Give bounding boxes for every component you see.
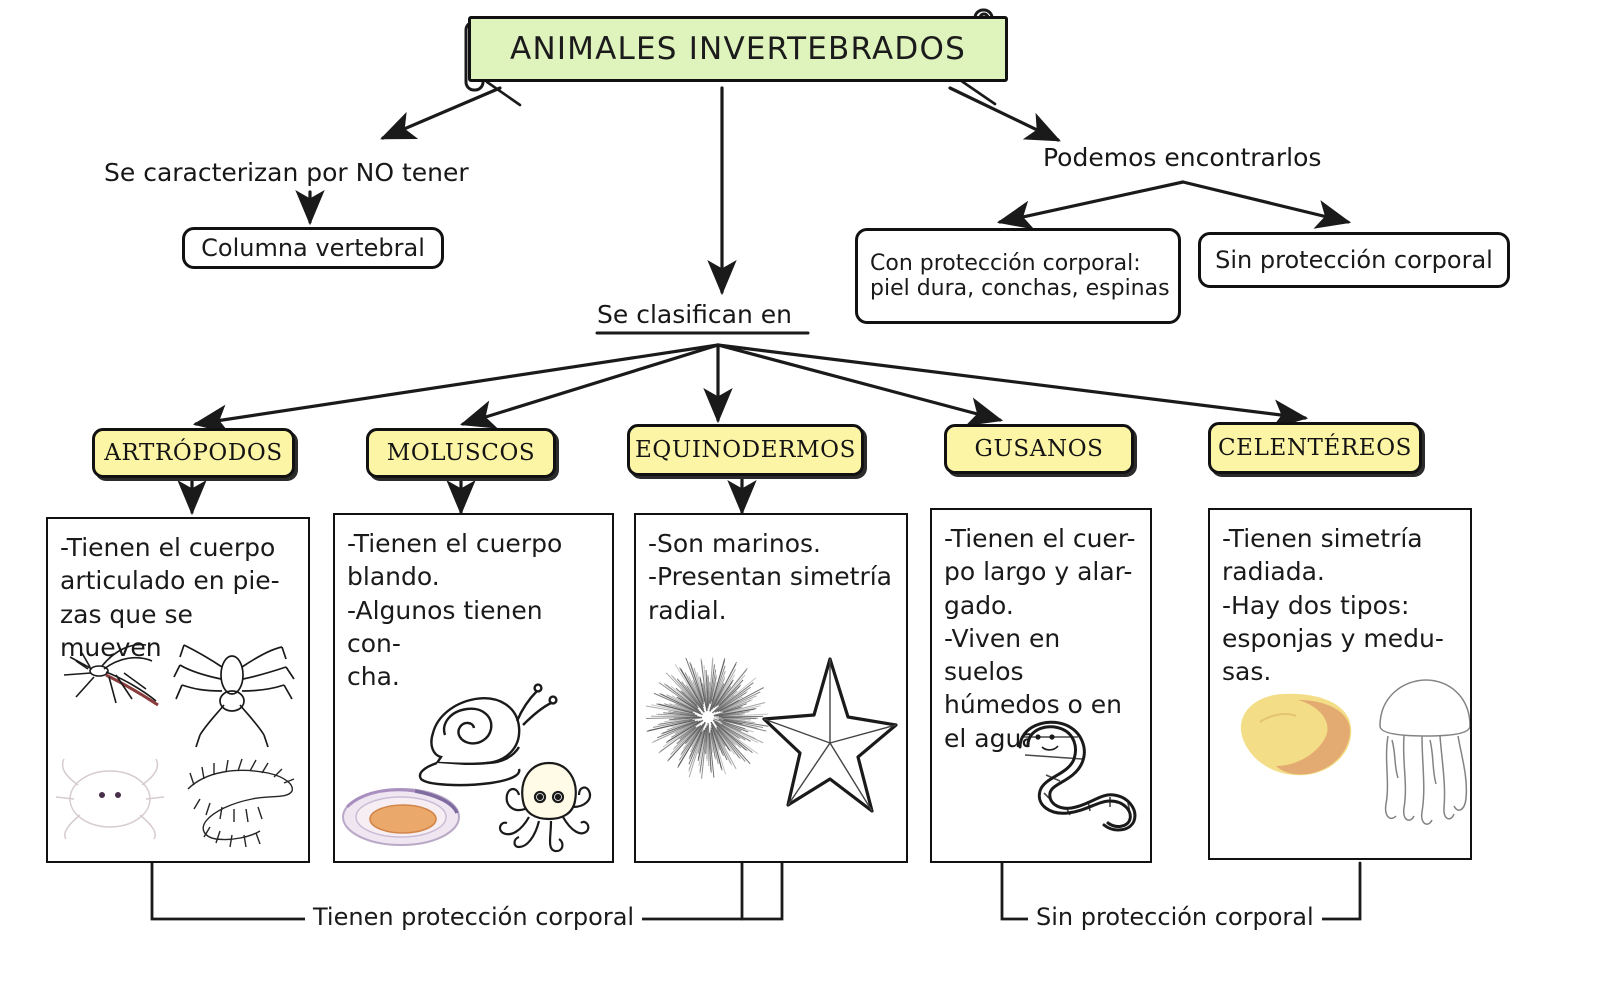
celentereos-figures xyxy=(1220,670,1470,856)
description-text: -Tienen simetría radiada. -Hay dos tipos… xyxy=(1222,522,1460,688)
bracket-label-left: Tienen protección corporal xyxy=(305,903,642,931)
artropodos-figures xyxy=(54,639,306,854)
mosquito-icon xyxy=(64,645,158,705)
spider-icon xyxy=(174,645,294,747)
crab-icon xyxy=(56,759,164,839)
sponge-icon xyxy=(1241,694,1351,776)
category-chip-moluscos[interactable]: MOLUSCOS xyxy=(366,428,556,478)
description-box-gusanos: -Tienen el cuer- po largo y alar- gado. … xyxy=(930,508,1152,863)
category-chip-artropodos[interactable]: ARTRÓPODOS xyxy=(92,428,295,478)
right-branch-caption: Podemos encontrarlos xyxy=(1043,143,1321,172)
page-title: ANIMALES INVERTEBRADOS xyxy=(510,31,966,67)
sin-proteccion-box: Sin protección corporal xyxy=(1198,232,1510,288)
category-chip-label: EQUINODERMOS xyxy=(635,437,856,463)
diagram-canvas: ANIMALES INVERTEBRADOS Se caracterizan p… xyxy=(0,0,1600,989)
gusanos-figures xyxy=(990,715,1150,835)
description-box-celentereos: -Tienen simetría radiada. -Hay dos tipos… xyxy=(1208,508,1472,860)
category-chip-label: ARTRÓPODOS xyxy=(104,440,282,466)
earthworm-icon xyxy=(1020,722,1135,830)
crab-eye-icon xyxy=(99,792,105,798)
sea-urchin-icon xyxy=(646,657,768,779)
columna-vertebral-label: Columna vertebral xyxy=(185,234,441,262)
clam-icon xyxy=(343,789,459,845)
category-chip-label: CELENTÉREOS xyxy=(1218,435,1412,461)
description-box-artropodos: -Tienen el cuerpo articulado en pie- zas… xyxy=(46,517,310,863)
centipede-icon xyxy=(188,759,294,847)
description-box-moluscos: -Tienen el cuerpo blando. -Algunos tiene… xyxy=(333,513,614,863)
category-chip-equinodermos[interactable]: EQUINODERMOS xyxy=(627,424,864,476)
equinodermos-figures xyxy=(644,633,902,823)
con-proteccion-line-2: piel dura, conchas, espinas xyxy=(858,276,1178,301)
jellyfish-icon xyxy=(1380,680,1470,824)
category-chip-label: MOLUSCOS xyxy=(387,440,536,466)
category-chip-gusanos[interactable]: GUSANOS xyxy=(944,424,1134,474)
sin-proteccion-label: Sin protección corporal xyxy=(1201,246,1507,274)
description-text: -Son marinos. -Presentan simetría radial… xyxy=(648,527,896,627)
category-chip-label: GUSANOS xyxy=(974,436,1103,462)
category-chip-celentereos[interactable]: CELENTÉREOS xyxy=(1208,422,1422,474)
starfish-icon xyxy=(764,659,896,811)
crab-eye-icon xyxy=(115,792,121,798)
bracket-label-right: Sin protección corporal xyxy=(1028,903,1322,931)
con-proteccion-line-1: Con protección corporal: xyxy=(858,251,1178,276)
description-box-equinodermos: -Son marinos. -Presentan simetría radial… xyxy=(634,513,908,863)
con-proteccion-box: Con protección corporal: piel dura, conc… xyxy=(855,228,1181,324)
columna-vertebral-box: Columna vertebral xyxy=(182,227,444,269)
title-banner: ANIMALES INVERTEBRADOS xyxy=(468,16,1008,82)
classify-caption: Se clasifican en xyxy=(597,300,792,329)
left-branch-caption: Se caracterizan por NO tener xyxy=(104,158,469,187)
moluscos-figures xyxy=(341,645,611,857)
